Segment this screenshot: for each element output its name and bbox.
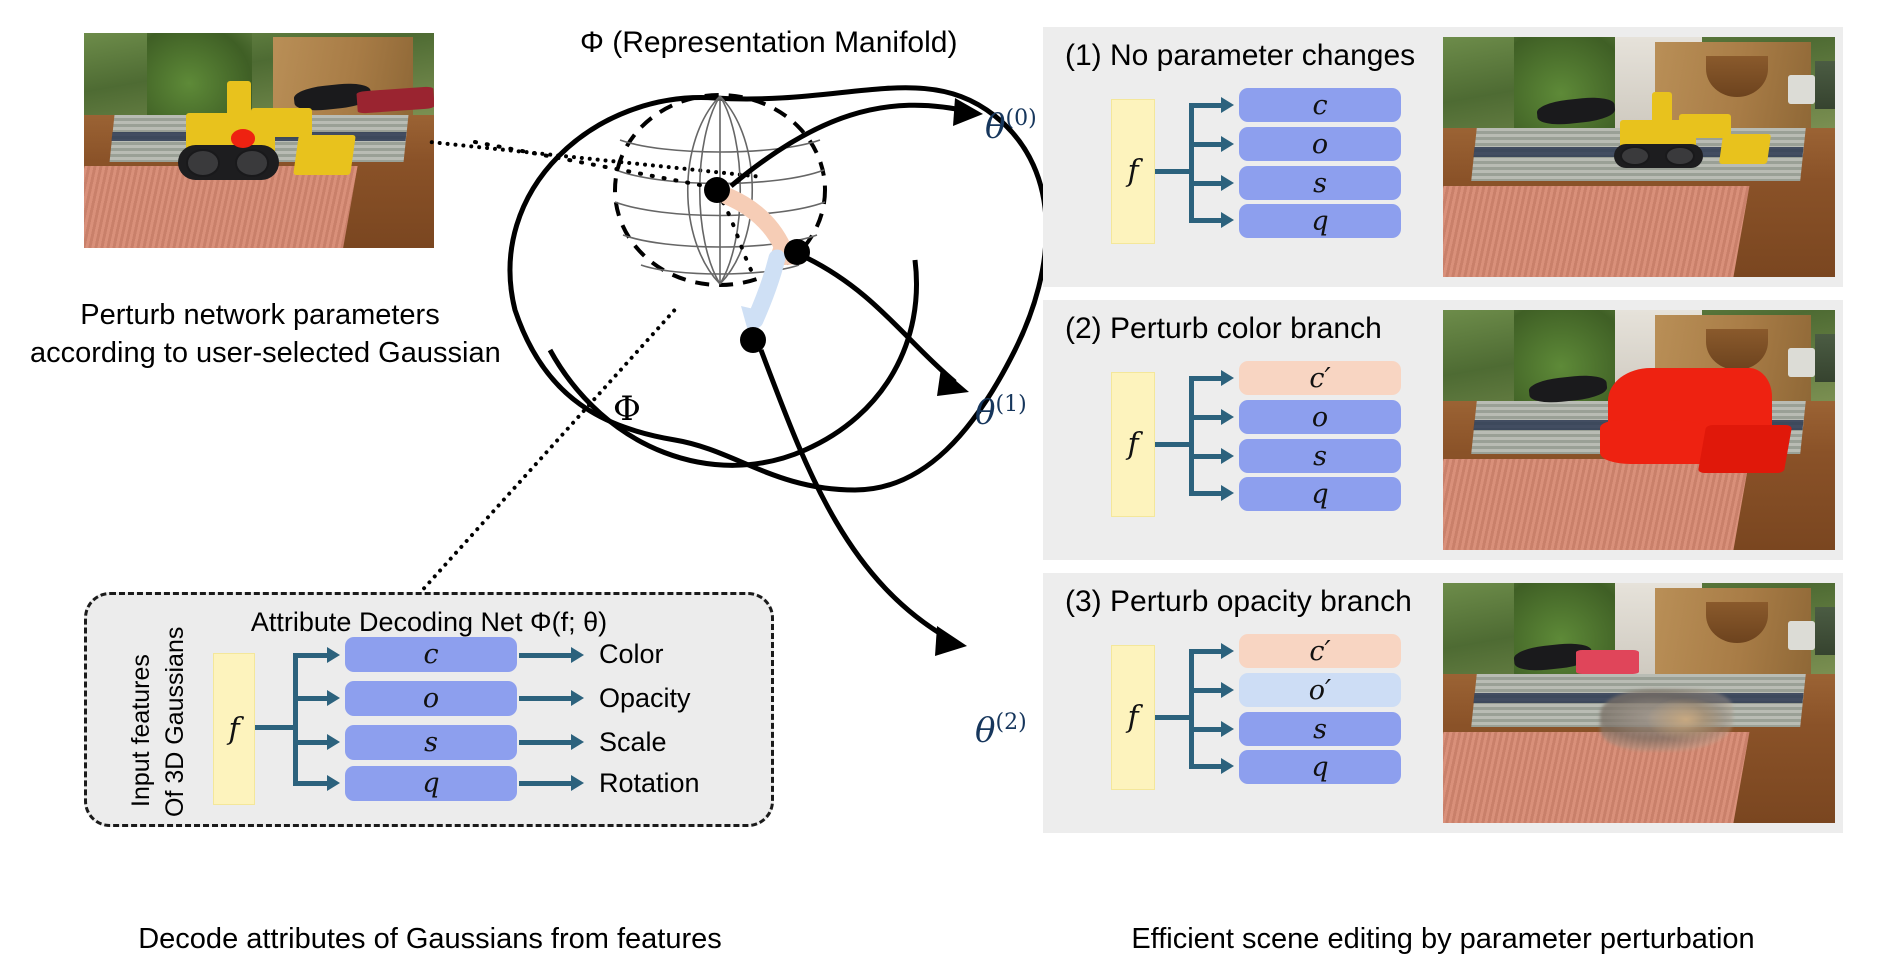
result-card-1-title: (1) No parameter changes <box>1065 39 1415 73</box>
card2-attr-q: q <box>1239 477 1401 511</box>
output-label-scale: Scale <box>599 727 667 758</box>
wire-branch-o <box>293 696 329 701</box>
card3-attr-s: s <box>1239 712 1401 746</box>
decode-attr-box-q: q <box>345 766 517 801</box>
card3-attr-o-perturbed: o′ <box>1239 673 1401 707</box>
input-features-label-line2: Of 3D Gaussians <box>161 627 190 817</box>
card3-feature-box: f <box>1111 645 1155 790</box>
result-card-3-title: (3) Perturb opacity branch <box>1065 585 1412 619</box>
left-bottom-caption: Decode attributes of Gaussians from feat… <box>60 920 800 958</box>
selected-gaussian-marker <box>231 129 255 148</box>
result-card-2-title: (2) Perturb color branch <box>1065 312 1382 346</box>
card1-attr-o: o <box>1239 127 1401 161</box>
node-theta2 <box>740 327 766 353</box>
input-features-label-line1: Input features <box>127 654 156 807</box>
decode-attr-box-s: s <box>345 725 517 760</box>
wire-trunk <box>255 725 297 730</box>
output-label-opacity: Opacity <box>599 683 691 714</box>
theta-label-0: θ(0) <box>985 106 1037 146</box>
card2-attr-c-perturbed: c′ <box>1239 361 1401 395</box>
source-scene-photo <box>84 33 434 248</box>
wire-branch-q <box>293 781 329 786</box>
decode-attr-box-o: o <box>345 681 517 716</box>
feature-box: f <box>213 653 255 805</box>
card2-render <box>1443 310 1835 550</box>
node-theta0 <box>704 177 730 203</box>
card1-render <box>1443 37 1835 277</box>
theta-label-1: θ(1) <box>975 392 1027 432</box>
decode-attr-box-c: c <box>345 637 517 672</box>
source-caption-line1: Perturb network parameters <box>60 296 460 334</box>
card2-attr-s: s <box>1239 439 1401 473</box>
card1-feature-box: f <box>1111 99 1155 244</box>
card1-attr-s: s <box>1239 166 1401 200</box>
card3-render <box>1443 583 1835 823</box>
node-theta1 <box>784 239 810 265</box>
figure-root: Perturb network parameters according to … <box>0 0 1892 974</box>
card1-attr-c: c <box>1239 88 1401 122</box>
card3-attr-q: q <box>1239 750 1401 784</box>
right-bottom-caption: Efficient scene editing by parameter per… <box>1043 920 1843 958</box>
card2-attr-o: o <box>1239 400 1401 434</box>
output-label-rotation: Rotation <box>599 768 700 799</box>
result-card-2: (2) Perturb color branch f c′ o s q <box>1043 300 1843 560</box>
wire-branch-s <box>293 740 329 745</box>
wire-branch-c <box>293 653 329 658</box>
result-card-1: (1) No parameter changes f c o s q <box>1043 27 1843 287</box>
wire-bus <box>293 653 298 781</box>
result-card-3: (3) Perturb opacity branch f c′ o′ s q <box>1043 573 1843 833</box>
theta-label-2: θ(2) <box>975 710 1027 750</box>
card3-attr-c-perturbed: c′ <box>1239 634 1401 668</box>
svg-text:Φ: Φ <box>613 389 641 429</box>
source-caption-line2: according to user-selected Gaussian <box>30 334 490 372</box>
card1-attr-q: q <box>1239 204 1401 238</box>
output-label-color: Color <box>599 639 664 670</box>
attribute-decoding-net-panel: Attribute Decoding Net Φ(f; θ) Input fea… <box>84 592 774 827</box>
card2-feature-box: f <box>1111 372 1155 517</box>
